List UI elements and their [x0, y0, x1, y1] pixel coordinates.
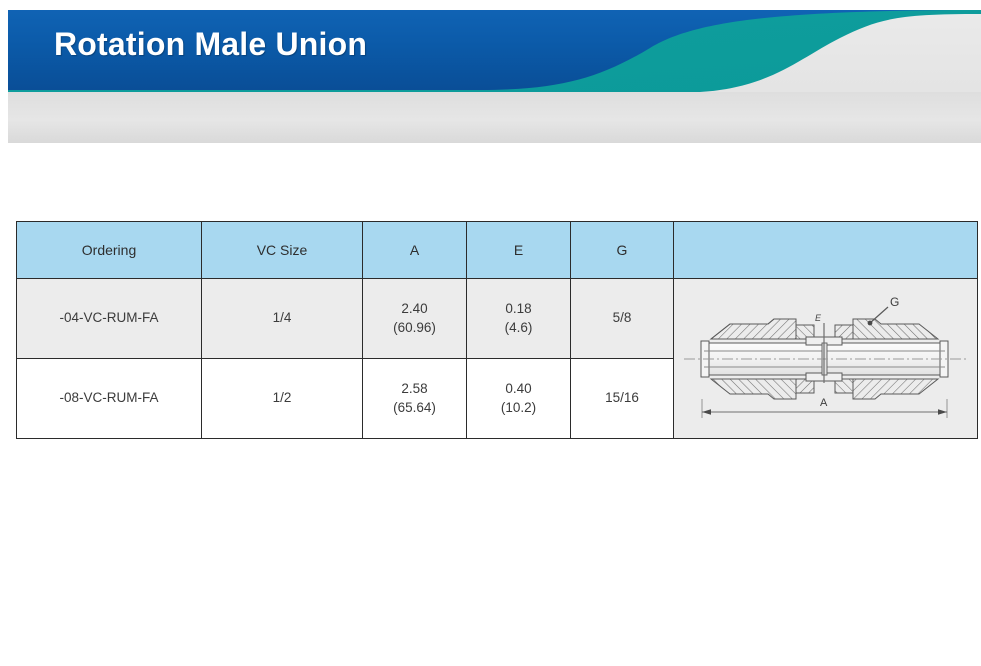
cell-g: 5/8: [571, 279, 674, 359]
column-header-a: A: [363, 222, 467, 279]
cell-e: 0.18 (4.6): [467, 279, 571, 359]
union-fitting-cross-section-diagram: E G A: [674, 281, 975, 436]
technical-drawing-wrapper: E G A: [674, 281, 977, 436]
table-header-row: Ordering VC Size A E G: [17, 222, 978, 279]
column-header-e: E: [467, 222, 571, 279]
table-header: Ordering VC Size A E G: [17, 222, 978, 279]
drawing-label-e: E: [815, 313, 822, 323]
cell-a: 2.40 (60.96): [363, 279, 467, 359]
cell-ordering: -08-VC-RUM-FA: [17, 359, 202, 439]
cell-ordering: -04-VC-RUM-FA: [17, 279, 202, 359]
cell-a-mm: (65.64): [364, 399, 465, 417]
cell-vc-size: 1/4: [202, 279, 363, 359]
cell-e-mm: (10.2): [468, 399, 569, 417]
cell-e: 0.40 (10.2): [467, 359, 571, 439]
column-header-ordering: Ordering: [17, 222, 202, 279]
header-banner-graphic: [0, 0, 981, 150]
cell-e-inch: 0.40: [468, 380, 569, 398]
column-header-g: G: [571, 222, 674, 279]
cell-a: 2.58 (65.64): [363, 359, 467, 439]
header-lower-band: [8, 92, 981, 143]
cell-a-inch: 2.40: [364, 300, 465, 318]
page-title: Rotation Male Union: [54, 26, 367, 63]
drawing-label-a: A: [820, 397, 828, 409]
g-leader-dot: [868, 321, 873, 326]
cell-e-inch: 0.18: [468, 300, 569, 318]
cell-a-mm: (60.96): [364, 319, 465, 337]
cell-vc-size: 1/2: [202, 359, 363, 439]
cell-a-inch: 2.58: [364, 380, 465, 398]
cell-g: 15/16: [571, 359, 674, 439]
table-body: -04-VC-RUM-FA 1/4 2.40 (60.96) 0.18 (4.6…: [17, 279, 978, 439]
drawing-label-g: G: [890, 295, 899, 309]
cell-technical-drawing: E G A: [674, 279, 978, 439]
specification-table: Ordering VC Size A E G -04-VC-RUM-FA 1/4…: [16, 221, 978, 439]
column-header-drawing: [674, 222, 978, 279]
table-row: -04-VC-RUM-FA 1/4 2.40 (60.96) 0.18 (4.6…: [17, 279, 978, 359]
column-header-vc-size: VC Size: [202, 222, 363, 279]
page-header-banner: Rotation Male Union: [0, 0, 981, 150]
cell-e-mm: (4.6): [468, 319, 569, 337]
